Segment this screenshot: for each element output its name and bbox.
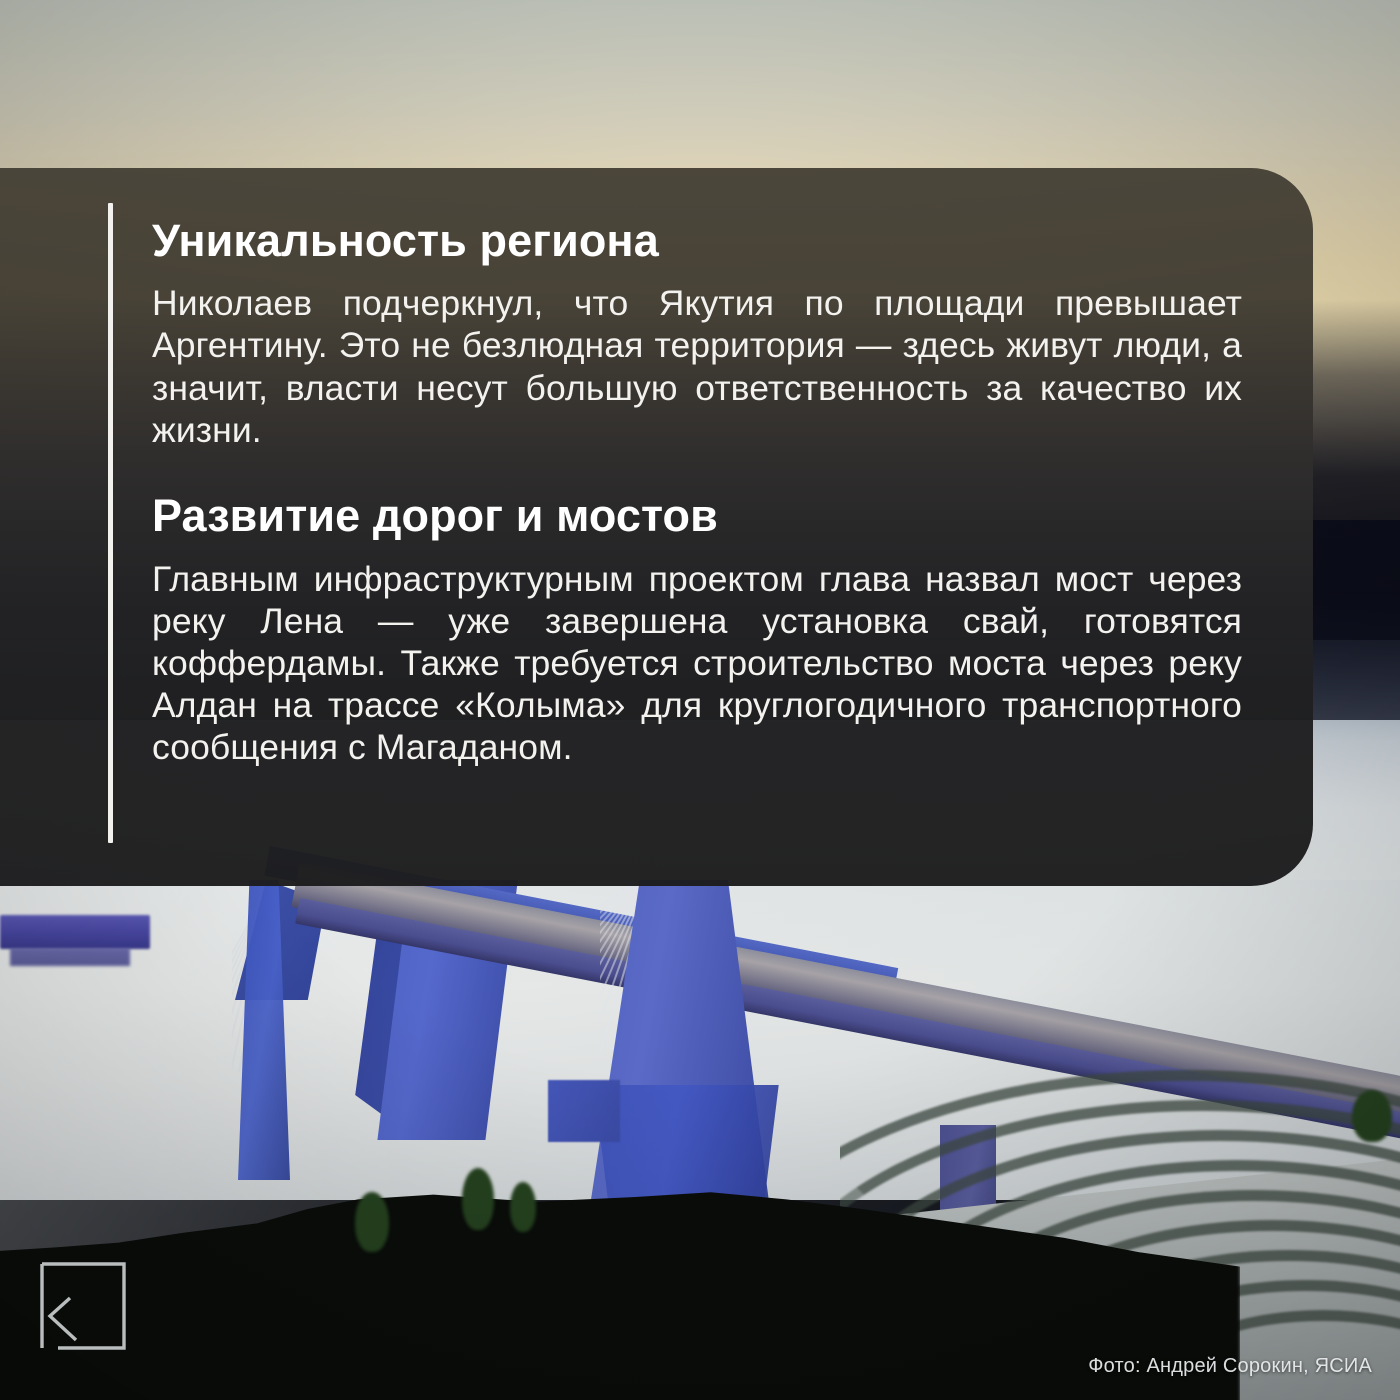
section-heading-1: Уникальность региона — [152, 216, 1242, 266]
distant-barge — [0, 915, 150, 949]
accent-vertical-rule — [108, 203, 113, 843]
model-block — [548, 1080, 620, 1142]
section-heading-2: Развитие дорог и мостов — [152, 491, 1242, 541]
text-panel: Уникальность региона Николаев подчеркнул… — [0, 168, 1313, 886]
foreground-sprout-a — [355, 1192, 389, 1252]
section-paragraph-1: Николаев подчеркнул, что Якутия по площа… — [152, 282, 1242, 450]
section-paragraph-2: Главным инфраструктурным проектом глава … — [152, 558, 1242, 768]
foreground-sprout-d — [1352, 1090, 1392, 1142]
k-monogram-logo — [36, 1260, 128, 1352]
photo-credit: Фото: Андрей Сорокин, ЯСИА — [1088, 1355, 1372, 1378]
distant-barge-reflection — [10, 948, 130, 966]
text-panel-body: Уникальность региона Николаев подчеркнул… — [152, 216, 1242, 768]
foreground-sprout-b — [462, 1168, 494, 1230]
foreground-sprout-c — [510, 1182, 536, 1232]
infographic-card: Уникальность региона Николаев подчеркнул… — [0, 0, 1400, 1400]
